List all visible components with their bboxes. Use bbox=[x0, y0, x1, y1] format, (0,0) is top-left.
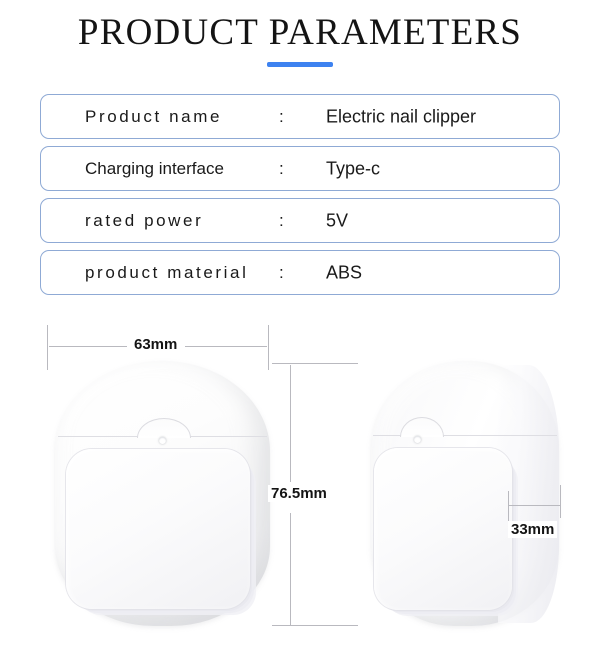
dimension-label-depth: 33mm bbox=[508, 521, 557, 538]
dimension-line-depth bbox=[509, 505, 560, 506]
dimension-extension-line-right bbox=[268, 325, 269, 370]
spec-label: Product name bbox=[85, 107, 222, 127]
recessed-panel-side bbox=[374, 448, 512, 610]
dimension-tick-height-bottom bbox=[272, 625, 358, 626]
recessed-panel-front bbox=[66, 449, 250, 609]
spec-value: 5V bbox=[326, 210, 348, 231]
led-indicator-icon-side bbox=[414, 436, 421, 443]
product-figure-area: 63mm 76.5mm 33mm bbox=[0, 305, 600, 650]
spec-value: ABS bbox=[326, 262, 362, 283]
spec-separator: : bbox=[279, 211, 284, 231]
spec-row-charging-interface: Charging interface : Type-c bbox=[40, 146, 560, 191]
dimension-tick-depth-right bbox=[560, 485, 561, 518]
dimension-line-height-lower bbox=[290, 513, 291, 625]
dimension-line-width-right bbox=[185, 346, 267, 347]
spec-row-product-material: product material : ABS bbox=[40, 250, 560, 295]
spec-value: Electric nail clipper bbox=[326, 106, 476, 127]
spec-label: Charging interface bbox=[85, 159, 224, 179]
dimension-tick-height-top bbox=[272, 363, 358, 364]
page-title: PRODUCT PARAMETERS bbox=[0, 12, 600, 54]
spec-value: Type-c bbox=[326, 158, 380, 179]
led-indicator-icon-front bbox=[159, 437, 166, 444]
dimension-extension-line-left bbox=[47, 325, 48, 370]
spec-label: rated power bbox=[85, 211, 203, 231]
dimension-label-height: 76.5mm bbox=[268, 485, 330, 502]
spec-table: Product name : Electric nail clipper Cha… bbox=[40, 94, 560, 302]
dimension-label-width: 63mm bbox=[131, 336, 180, 353]
dimension-tick-depth-left bbox=[508, 491, 509, 524]
spec-row-product-name: Product name : Electric nail clipper bbox=[40, 94, 560, 139]
spec-separator: : bbox=[279, 107, 284, 127]
dimension-line-width-left bbox=[49, 346, 127, 347]
spec-label: product material bbox=[85, 263, 249, 283]
spec-separator: : bbox=[279, 159, 284, 179]
title-accent-bar bbox=[267, 62, 333, 67]
dimension-line-height-upper bbox=[290, 365, 291, 482]
spec-row-rated-power: rated power : 5V bbox=[40, 198, 560, 243]
spec-separator: : bbox=[279, 263, 284, 283]
